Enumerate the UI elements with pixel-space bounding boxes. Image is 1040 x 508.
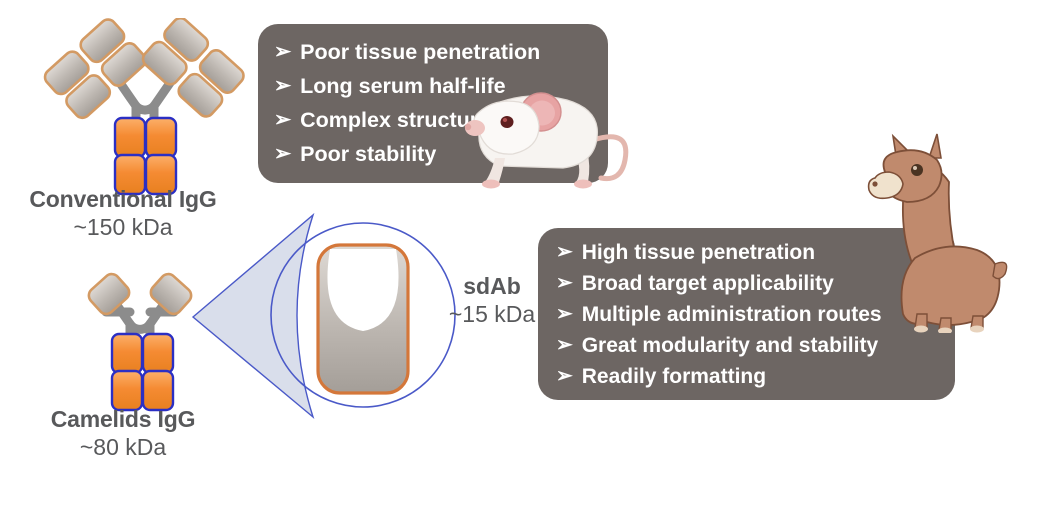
figure-canvas: Conventional IgG ~150 kDa bbox=[0, 0, 1040, 508]
conventional-igg-diagram bbox=[40, 18, 250, 201]
magnifier-circle-icon bbox=[185, 205, 460, 435]
alpaca-ear-right bbox=[929, 134, 941, 158]
arrow-bullet-icon: ➢ bbox=[274, 144, 291, 164]
arrow-bullet-icon: ➢ bbox=[556, 274, 573, 294]
arrow-bullet-icon: ➢ bbox=[556, 243, 573, 263]
mouse-eye bbox=[501, 116, 514, 128]
alpaca-hoof-back bbox=[970, 326, 984, 333]
mouse-nose bbox=[465, 124, 471, 130]
alpaca-body bbox=[902, 246, 1000, 325]
alpaca-eye-highlight bbox=[913, 166, 917, 170]
arrow-bullet-icon: ➢ bbox=[274, 42, 291, 62]
alpaca-nostril bbox=[872, 181, 877, 186]
list-item: ➢ Readily formatting bbox=[556, 361, 955, 392]
hinge bbox=[118, 80, 172, 121]
sdab-domain bbox=[318, 245, 408, 393]
arrow-bullet-icon: ➢ bbox=[556, 305, 573, 325]
sdab-mass: ~15 kDa bbox=[432, 301, 552, 328]
mouse-hind-paw bbox=[574, 180, 592, 189]
alpaca-illustration bbox=[845, 128, 1025, 338]
list-item-label: High tissue penetration bbox=[582, 237, 815, 268]
list-item-label: Poor stability bbox=[300, 137, 436, 171]
sdab-label: sdAb ~15 kDa bbox=[432, 273, 552, 328]
mouse-front-leg bbox=[485, 158, 505, 182]
list-item-label: Poor tissue penetration bbox=[300, 35, 540, 69]
alpaca-eye bbox=[911, 164, 923, 176]
list-item: ➢ Poor tissue penetration bbox=[274, 35, 608, 69]
sdab-name: sdAb bbox=[432, 273, 552, 300]
arrow-bullet-icon: ➢ bbox=[556, 367, 573, 387]
arrow-bullet-icon: ➢ bbox=[556, 336, 573, 356]
magnifier-cone bbox=[193, 215, 313, 417]
alpaca-hoof-front bbox=[914, 326, 928, 333]
list-item-label: Great modularity and stability bbox=[582, 330, 878, 361]
fc-constant-domains bbox=[112, 334, 173, 410]
list-item-label: Broad target applicability bbox=[582, 268, 834, 299]
mouse-front-paw bbox=[482, 180, 500, 189]
mouse-eye-highlight bbox=[503, 118, 507, 122]
mouse-tail bbox=[593, 137, 626, 179]
mouse-illustration bbox=[455, 78, 630, 195]
list-item-label: Multiple administration routes bbox=[582, 299, 882, 330]
arrow-bullet-icon: ➢ bbox=[274, 110, 291, 130]
fc-constant-domains bbox=[115, 118, 176, 194]
arrow-bullet-icon: ➢ bbox=[274, 76, 291, 96]
list-item-label: Readily formatting bbox=[582, 361, 766, 392]
camelid-igg-mass: ~80 kDa bbox=[8, 434, 238, 461]
alpaca-tail bbox=[993, 262, 1007, 278]
